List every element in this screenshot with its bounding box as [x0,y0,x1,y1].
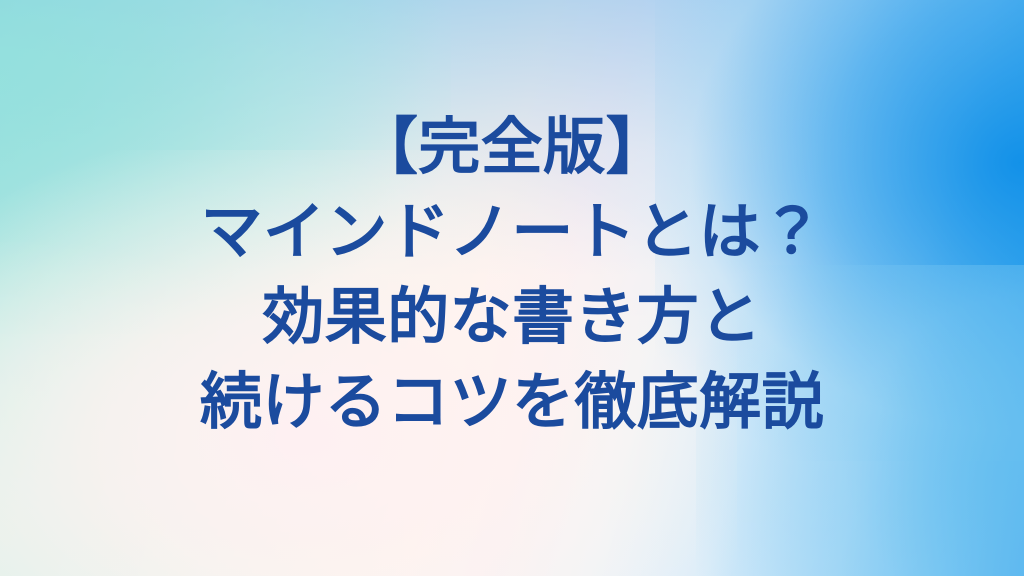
title-line-4: 続けるコツを徹底解説 [0,359,1024,444]
title-line-2: マインドノートとは？ [0,189,1024,274]
title-line-3: 効果的な書き方と [0,274,1024,359]
title-card-canvas: 【完全版】 マインドノートとは？ 効果的な書き方と 続けるコツを徹底解説 [0,0,1024,576]
page-title: 【完全版】 マインドノートとは？ 効果的な書き方と 続けるコツを徹底解説 [0,104,1024,444]
title-line-1: 【完全版】 [0,104,1024,189]
